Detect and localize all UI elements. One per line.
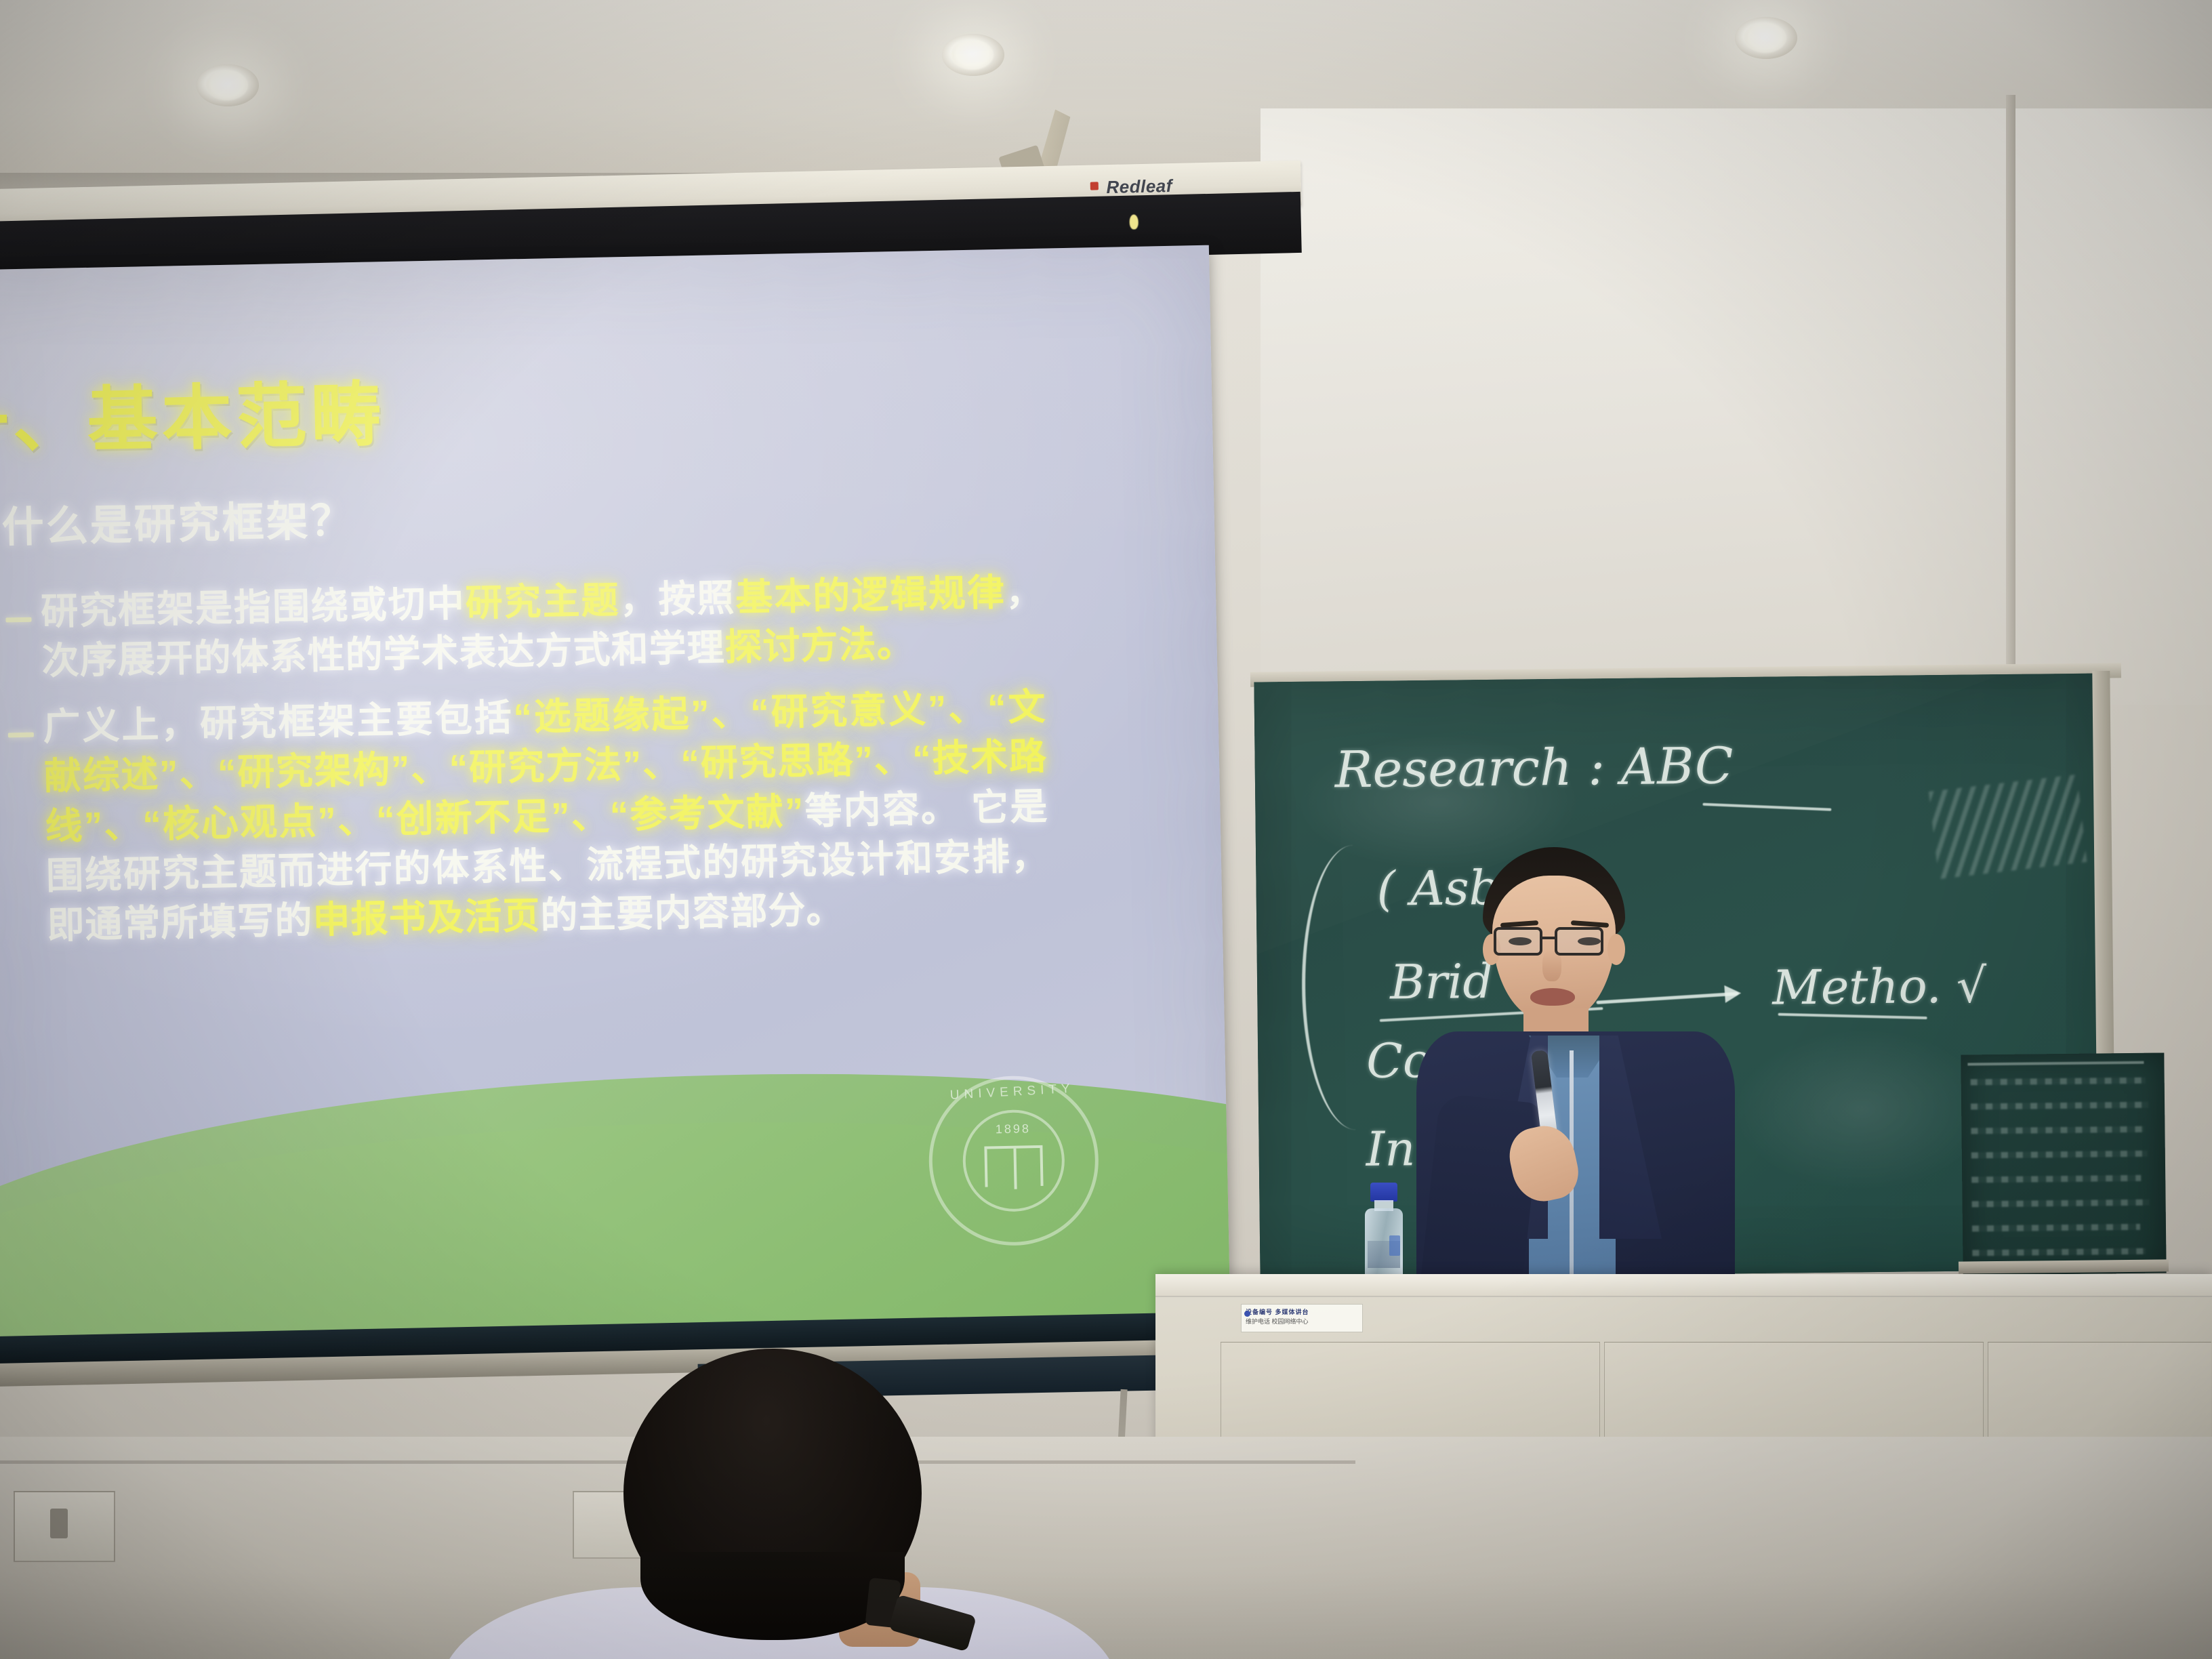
slide-title: 一、基本范畴 — [0, 356, 386, 468]
lecture-hall-photo: Redleaf UNIVERSITY 1898 一、基本范畴 ）、什么是研究框架… — [0, 0, 2212, 1659]
presenter-nose — [1542, 950, 1561, 981]
slide-bullet-list: 研究框架是指围绕或切中研究主题，按照基本的逻辑规律，次序展开的体系性的学术表达方… — [0, 564, 1209, 968]
bottle-label-accent — [1389, 1235, 1400, 1256]
podium-asset-sticker: 设备编号 多媒体讲台 维护电话 校园网络中心 — [1241, 1304, 1363, 1332]
ceiling-light-icon — [942, 34, 1004, 76]
slide-subtitle: ）、什么是研究框架？ — [0, 486, 354, 555]
screen-light-reflection-icon — [1129, 214, 1138, 229]
secondary-blackboard-ledge — [1959, 1259, 2169, 1273]
wall-corner-edge — [2006, 95, 2015, 718]
ceiling-light-icon — [1735, 17, 1797, 59]
secondary-blackboard — [1961, 1052, 2166, 1275]
presenter — [1410, 847, 1748, 1308]
lower-wall — [0, 1437, 2212, 1659]
slide-bullet-item: 研究框架是指围绕或切中研究主题，按照基本的逻辑规律，次序展开的体系性的学术表达方… — [0, 564, 1204, 687]
podium-worktop — [1155, 1274, 2212, 1297]
chalk-eraser-mark — [1929, 775, 2087, 879]
podium-sticker-line1: 设备编号 多媒体讲台 — [1246, 1308, 1358, 1317]
presenter-mouth — [1530, 988, 1575, 1006]
slide-bullet-item: 广义上，研究框架主要包括“选题缘起”、“研究意义”、“文献综述”、“研究架构”、… — [0, 679, 1209, 951]
right-wall-panel — [1261, 108, 2212, 705]
chalk-line-metho: Metho. √ — [1772, 958, 1987, 1015]
ceiling-light-icon — [197, 64, 259, 106]
bullet-text: 广义上，研究框架主要包括“选题缘起”、“研究意义”、“文献综述”、“研究架构”、… — [43, 682, 1050, 950]
student-foreground — [515, 1349, 1030, 1659]
chalk-line-in: In — [1366, 1121, 1416, 1177]
bottle-cap — [1370, 1183, 1397, 1202]
bullet-text: 研究框架是指围绕或切中研究主题，按照基本的逻辑规律，次序展开的体系性的学术表达方… — [41, 567, 1046, 687]
bullet-dash-icon — [5, 617, 31, 623]
wall-switch-plate[interactable] — [14, 1491, 115, 1562]
chalk-line-research: Research : ABC — [1334, 737, 1734, 799]
chalk-underline — [1702, 803, 1831, 811]
slide-content: 一、基本范畴 ）、什么是研究框架？ 研究框架是指围绕或切中研究主题，按照基本的逻… — [0, 245, 1231, 1355]
chalk-smudge — [1732, 1027, 1991, 1192]
projection-screen-surface: UNIVERSITY 1898 一、基本范畴 ）、什么是研究框架？ 研究框架是指… — [0, 245, 1231, 1355]
bullet-dash-icon — [8, 733, 34, 738]
podium-sticker-line2: 维护电话 校园网络中心 — [1246, 1317, 1358, 1327]
